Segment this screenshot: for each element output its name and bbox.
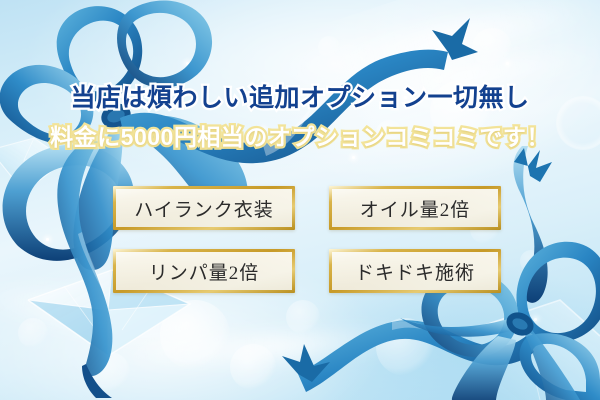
sparkle xyxy=(506,62,509,65)
feature-box-double-lymph: リンパ量2倍 xyxy=(113,249,295,293)
sparkle xyxy=(186,62,189,65)
bokeh-light xyxy=(520,250,542,272)
headline-primary: 当店は煩わしい追加オプション一切無し xyxy=(0,84,600,113)
feature-box-label: ドキドキ施術 xyxy=(355,258,475,285)
sparkle xyxy=(222,168,225,171)
promo-banner: 当店は煩わしい追加オプション一切無し 料金に5000円相当のオプションコミコミで… xyxy=(0,0,600,400)
feature-box-exciting-treatment: ドキドキ施術 xyxy=(329,249,501,293)
sky-wash-upper-right xyxy=(148,0,600,347)
light-streak-4 xyxy=(120,326,421,369)
bokeh-light xyxy=(318,36,340,58)
glass-shard-bottom-right xyxy=(470,300,600,400)
feature-box-double-oil: オイル量2倍 xyxy=(329,186,501,230)
light-streak-1 xyxy=(301,0,600,83)
bokeh-light xyxy=(230,344,276,390)
ribbon-streamer-right xyxy=(513,146,552,303)
headline-secondary: 料金に5000円相当のオプションコミコミです！ xyxy=(0,124,600,150)
bokeh-light xyxy=(472,28,512,68)
bokeh-light xyxy=(376,318,434,376)
sparkle xyxy=(126,296,129,299)
bokeh-light xyxy=(90,352,130,392)
feature-box-high-rank-costume: ハイランク衣装 xyxy=(113,186,295,230)
feature-box-label: ハイランク衣装 xyxy=(134,195,274,222)
feature-box-label: リンパ量2倍 xyxy=(149,258,260,285)
sparkle xyxy=(46,238,49,241)
sparkle xyxy=(534,318,537,321)
bokeh-light xyxy=(18,318,48,348)
headline-group: 当店は煩わしい追加オプション一切無し 料金に5000円相当のオプションコミコミで… xyxy=(0,84,600,150)
bokeh-light xyxy=(286,300,320,334)
sparkle xyxy=(352,156,355,159)
feature-box-label: オイル量2倍 xyxy=(360,195,471,222)
feature-box-grid: ハイランク衣装 オイル量2倍 リンパ量2倍 ドキドキ施術 xyxy=(113,186,501,293)
bokeh-light xyxy=(160,300,230,370)
ribbon-streamer-bottom xyxy=(282,320,534,392)
ribbon-streamer-left xyxy=(57,138,112,398)
